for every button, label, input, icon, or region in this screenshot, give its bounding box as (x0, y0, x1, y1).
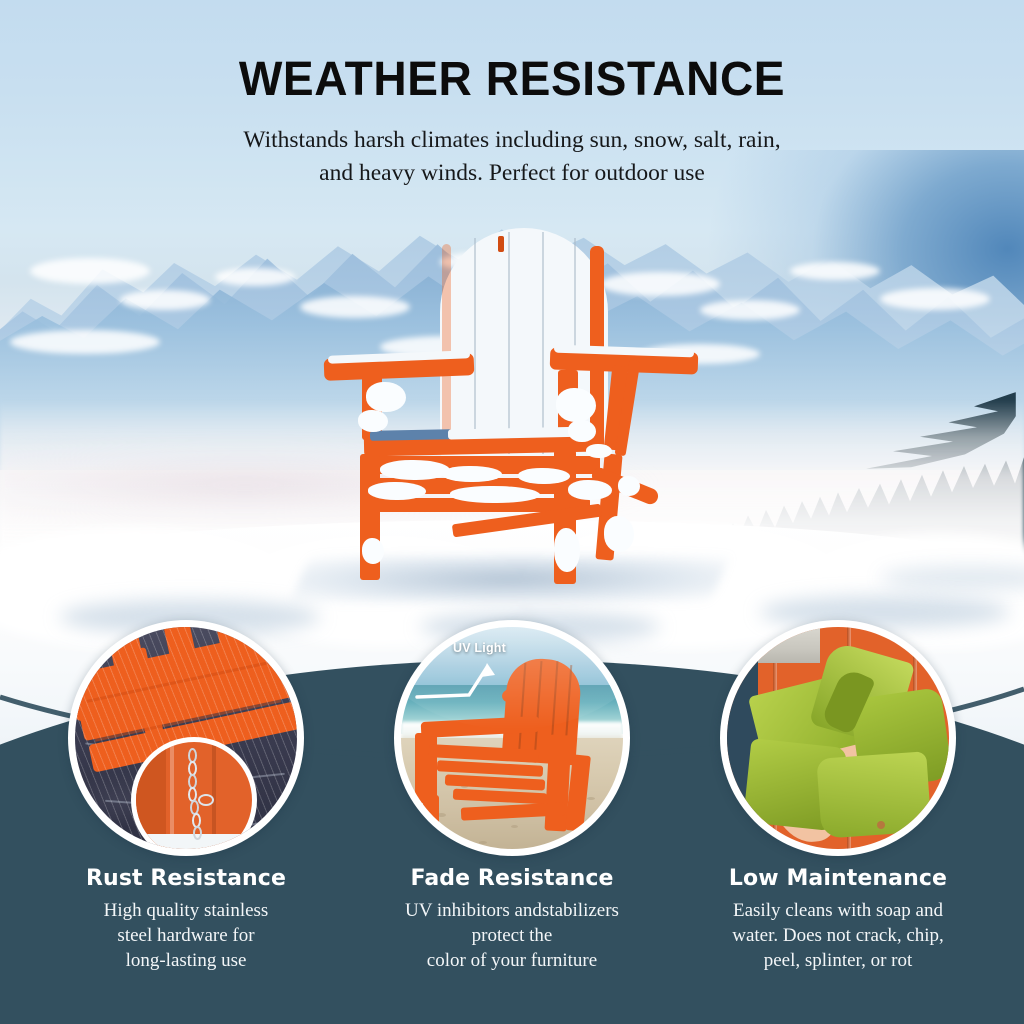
feature-title: Fade Resistance (362, 866, 662, 891)
feature-caption-rust-resistance: Rust Resistance High quality stainless s… (36, 866, 336, 973)
screw-head-icon (877, 821, 885, 829)
page-title: WEATHER RESISTANCE (20, 52, 1003, 107)
feature-image-fade-resistance[interactable]: UV Light (394, 620, 630, 856)
infographic-poster: UV Light (0, 0, 1024, 1024)
feature-body: Easily cleans with soap and water. Does … (688, 898, 988, 973)
feature-body: High quality stainless steel hardware fo… (36, 898, 336, 973)
hero-chair-image (322, 228, 702, 580)
feature-title: Rust Resistance (36, 866, 336, 891)
feature-title: Low Maintenance (688, 866, 988, 891)
feature-image-low-maintenance[interactable] (720, 620, 956, 856)
feature-caption-low-maintenance: Low Maintenance Easily cleans with soap … (688, 866, 988, 973)
uv-arrow-icon (411, 653, 521, 705)
feature-caption-fade-resistance: Fade Resistance UV inhibitors andstabili… (362, 866, 662, 973)
feature-image-rust-resistance[interactable] (68, 620, 304, 856)
feature-body: UV inhibitors andstabilizers protect the… (362, 898, 662, 973)
page-subtitle: Withstands harsh climates including sun,… (162, 124, 862, 190)
